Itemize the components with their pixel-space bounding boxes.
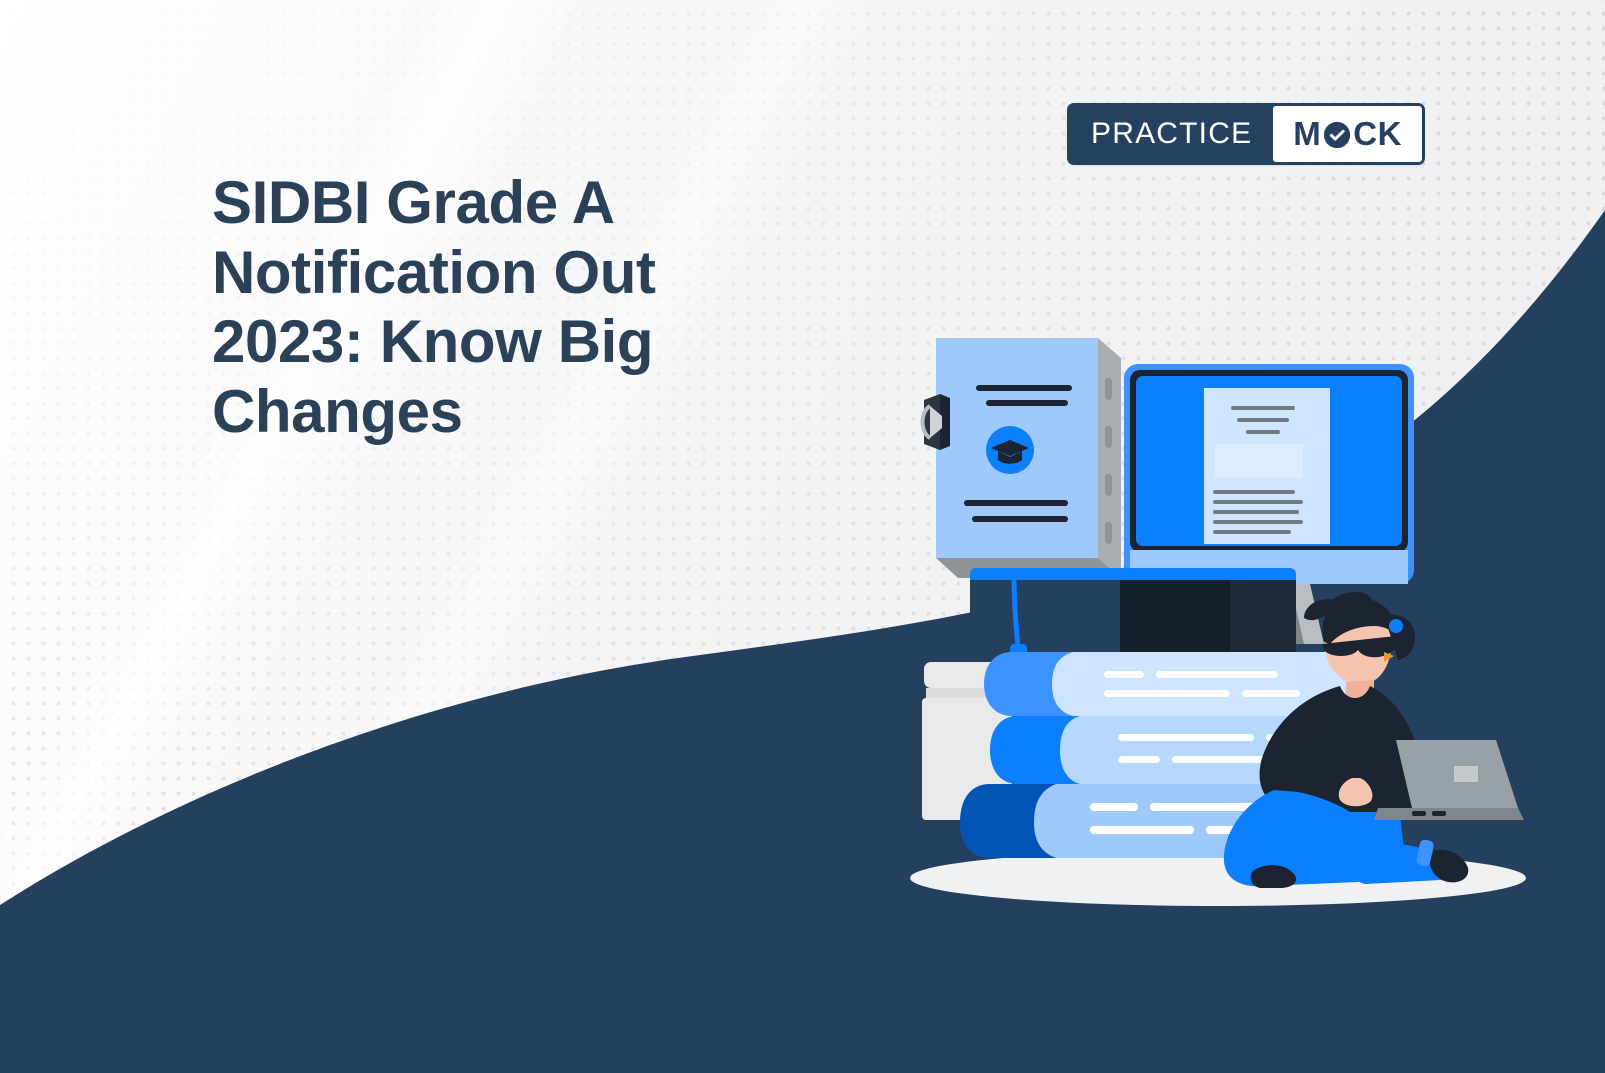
logo-letter-m: M — [1293, 115, 1321, 153]
hero-illustration — [818, 300, 1558, 920]
graduation-cap-badge-icon — [986, 426, 1034, 474]
logo-word-mock: M CK — [1273, 106, 1422, 162]
check-circle-icon — [1323, 121, 1351, 149]
logo-word-practice: PRACTICE — [1067, 103, 1273, 165]
document-card — [923, 338, 1122, 578]
document-page-icon — [1204, 388, 1330, 544]
clip-icon — [923, 394, 951, 450]
brand-logo[interactable]: PRACTICE M CK — [1067, 103, 1425, 165]
page-title: SIDBI Grade A Notification Out 2023: Kno… — [212, 168, 832, 446]
promo-banner: SIDBI Grade A Notification Out 2023: Kno… — [0, 0, 1605, 1073]
logo-letters-ck: CK — [1353, 115, 1402, 153]
